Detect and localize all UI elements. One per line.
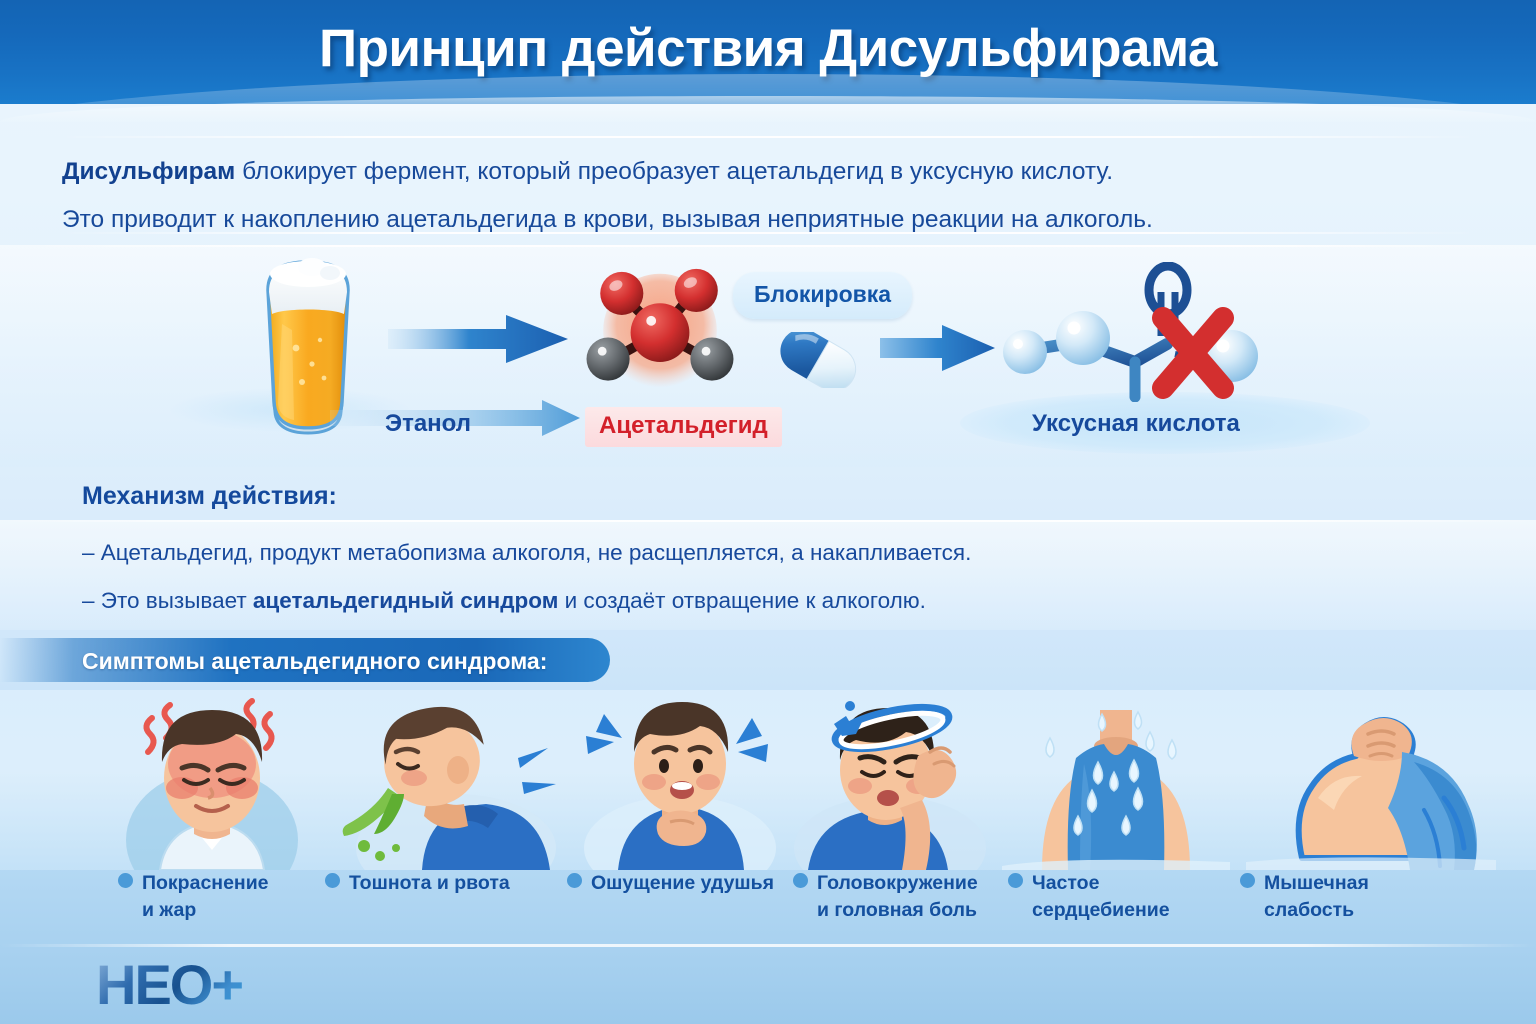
symptom-label-3-line1: Ошущение удушья (591, 872, 774, 894)
symptom-label-6: Мышечнаяслабость (1240, 870, 1455, 924)
symptoms-banner-label: Симптомы ацетальдегидного синдрома: (82, 648, 547, 675)
intro-drug-name: Дисульфирам (62, 158, 235, 185)
intro-top-divider (60, 136, 1476, 138)
ethanol-label: Этанол (385, 410, 471, 438)
mechanism-item-2: – Это вызывает ацетальдегидный синдром и… (82, 588, 926, 614)
dizzy-headache-icon (790, 690, 1002, 870)
mechanism-item-1: – Ацетальдегид, продукт метабопизма алко… (82, 540, 971, 566)
infographic-page: Принцип действия Дисульфирама Дисульфира… (0, 0, 1536, 1024)
vomiting-person-icon (336, 690, 568, 870)
symptom-label-1: Покраснениеи жар (118, 870, 338, 924)
symptom-label-5-line1: Частое (1032, 872, 1099, 894)
symptom-label-6-line2: слабость (1264, 897, 1455, 924)
intro-bottom-divider (60, 232, 1476, 234)
mechanism-item-2-after: и создаёт отвращение к алкоголю. (558, 588, 926, 613)
footer-divider (0, 944, 1536, 947)
capsule-pill-icon (772, 332, 864, 388)
bullet-dot-icon (567, 873, 582, 888)
symptom-label-5: Частоесердцебиение (1008, 870, 1223, 924)
mechanism-item-2-before: Это вызывает (101, 588, 253, 613)
symptom-card-2 (336, 690, 568, 870)
acetaldehyde-molecule-icon (575, 264, 745, 409)
symptom-cards (0, 690, 1536, 870)
right-arrow-icon (388, 315, 568, 363)
symptom-label-6-line1: Мышечная (1264, 872, 1369, 894)
choking-person-icon (570, 690, 788, 870)
mechanism-item-2-bold: ацетальдегидный синдром (253, 588, 558, 613)
symptom-label-1-line1: Покраснение (142, 872, 269, 894)
symptom-label-2-line1: Тошнота и рвота (349, 872, 510, 894)
symptom-label-5-line2: сердцебиение (1032, 897, 1223, 924)
mechanism-item-2-dash: – (82, 588, 101, 613)
intro-line-1: Дисульфирам блокирует фермент, который п… (62, 148, 1462, 196)
symptom-label-4: Головокружениеи головная боль (793, 870, 1003, 924)
bullet-dot-icon (793, 873, 808, 888)
bullet-dot-icon (1240, 873, 1255, 888)
sweating-torso-icon (1002, 690, 1230, 870)
bullet-dot-icon (118, 873, 133, 888)
symptom-label-1-line2: и жар (142, 897, 338, 924)
symptom-card-1 (96, 690, 328, 870)
right-arrow-icon-2 (880, 325, 995, 371)
symptom-label-3: Ошущение удушья (567, 870, 797, 897)
mechanism-item-1-dash: – (82, 540, 101, 565)
page-title: Принцип действия Дисульфирама (0, 18, 1536, 79)
acetic-acid-molecule-icon (995, 262, 1275, 402)
symptom-label-2: Тошнота и рвота (325, 870, 555, 897)
mechanism-heading: Механизм действия: (82, 482, 337, 511)
acetic-acid-label: Уксусная кислота (1032, 410, 1240, 438)
intro-text-block: Дисульфирам блокирует фермент, который п… (62, 148, 1462, 244)
acetaldehyde-label: Ацетальдегид (585, 407, 782, 447)
block-badge: Блокировка (733, 272, 912, 319)
brand-logo-plus: + (211, 953, 242, 1016)
symptom-label-4-line2: и головная боль (817, 897, 1003, 924)
symptom-label-4-line1: Головокружение (817, 872, 978, 894)
flexing-arm-icon (1246, 690, 1496, 870)
symptom-card-3 (570, 690, 788, 870)
bullet-dot-icon (325, 873, 340, 888)
brand-logo: НЕО+ (96, 952, 242, 1017)
header-bar: Принцип действия Дисульфирама (0, 0, 1536, 104)
symptom-card-6 (1246, 690, 1496, 870)
mechanism-item-1-text: Ацетальдегид, продукт метабопизма алкого… (101, 540, 972, 565)
symptom-labels: Покраснениеи жар Тошнота и рвота Ошущени… (0, 870, 1536, 950)
brand-logo-text: НЕО (96, 953, 211, 1016)
intro-line-2: Это приводит к накоплению ацетальдегида … (62, 196, 1462, 244)
symptom-card-5 (1002, 690, 1230, 870)
bullet-dot-icon (1008, 873, 1023, 888)
intro-line-1-rest: блокирует фермент, который преобразует а… (235, 158, 1113, 185)
symptom-card-4 (790, 690, 1002, 870)
flushed-face-icon (96, 690, 328, 870)
